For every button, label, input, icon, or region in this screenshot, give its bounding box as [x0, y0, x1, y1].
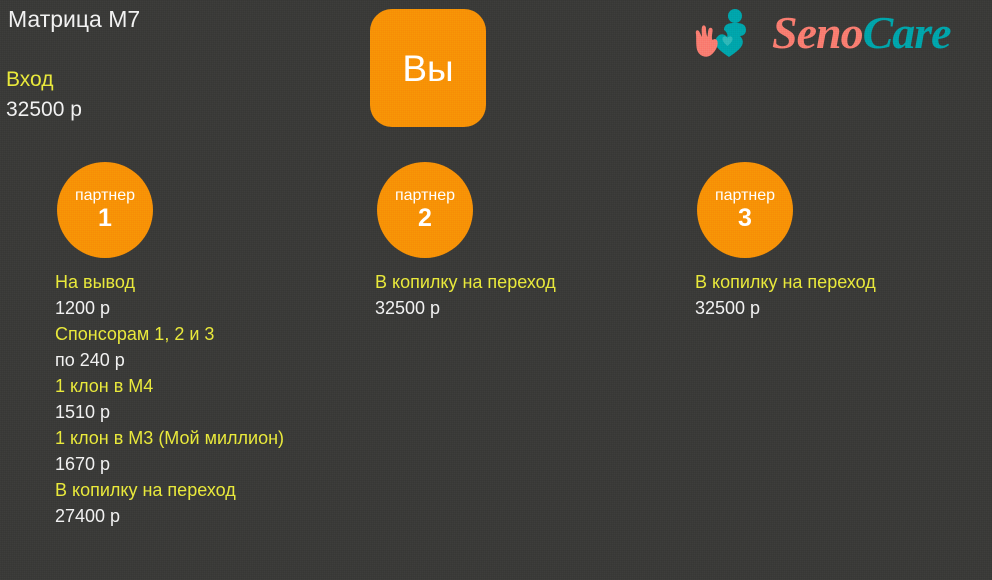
you-node-label: Вы	[402, 50, 453, 87]
breakdown-label: Спонсорам 1, 2 и 3	[55, 321, 284, 347]
you-node[interactable]: Вы	[370, 9, 486, 127]
partner-3-breakdown: В копилку на переход 32500 р	[695, 269, 876, 321]
partner-column-1: партнер 1 На вывод 1200 р Спонсорам 1, 2…	[57, 162, 153, 258]
breakdown-value: 1200 р	[55, 295, 284, 321]
partner-label-2: партнер	[395, 188, 455, 205]
partner-2-breakdown: В копилку на переход 32500 р	[375, 269, 556, 321]
senocare-logo: SenoCare	[694, 7, 951, 59]
partner-number-2: 2	[418, 205, 432, 233]
partner-column-2: партнер 2 В копилку на переход 32500 р	[377, 162, 473, 258]
partner-node-1[interactable]: партнер 1	[57, 162, 153, 258]
breakdown-label: В копилку на переход	[375, 269, 556, 295]
breakdown-label: В копилку на переход	[695, 269, 876, 295]
logo-wordmark: SenoCare	[772, 10, 951, 56]
entry-fee-value: 32500 р	[6, 98, 82, 122]
breakdown-label: В копилку на переход	[55, 477, 284, 503]
breakdown-value: 1510 р	[55, 399, 284, 425]
partner-number-1: 1	[98, 205, 112, 233]
partner-1-breakdown: На вывод 1200 р Спонсорам 1, 2 и 3 по 24…	[55, 269, 284, 529]
breakdown-label: 1 клон в М4	[55, 373, 284, 399]
partner-column-3: партнер 3 В копилку на переход 32500 р	[697, 162, 793, 258]
entry-fee-label: Вход	[6, 68, 54, 92]
matrix-m7-slide: Матрица М7 Вход 32500 р SenoCare Вы парт…	[0, 0, 992, 580]
breakdown-label: На вывод	[55, 269, 284, 295]
partner-number-3: 3	[738, 205, 752, 233]
partner-label-1: партнер	[75, 188, 135, 205]
breakdown-label: 1 клон в М3 (Мой миллион)	[55, 425, 284, 451]
breakdown-value: 32500 р	[375, 295, 556, 321]
partner-label-3: партнер	[715, 188, 775, 205]
breakdown-value: 32500 р	[695, 295, 876, 321]
logo-word-seno: Seno	[772, 7, 863, 58]
logo-word-care: Care	[863, 7, 951, 58]
breakdown-value: 1670 р	[55, 451, 284, 477]
breakdown-value: 27400 р	[55, 503, 284, 529]
page-title: Матрица М7	[8, 6, 140, 33]
partner-node-2[interactable]: партнер 2	[377, 162, 473, 258]
partner-node-3[interactable]: партнер 3	[697, 162, 793, 258]
senocare-hand-heart-person-icon	[694, 8, 766, 58]
breakdown-value: по 240 р	[55, 347, 284, 373]
